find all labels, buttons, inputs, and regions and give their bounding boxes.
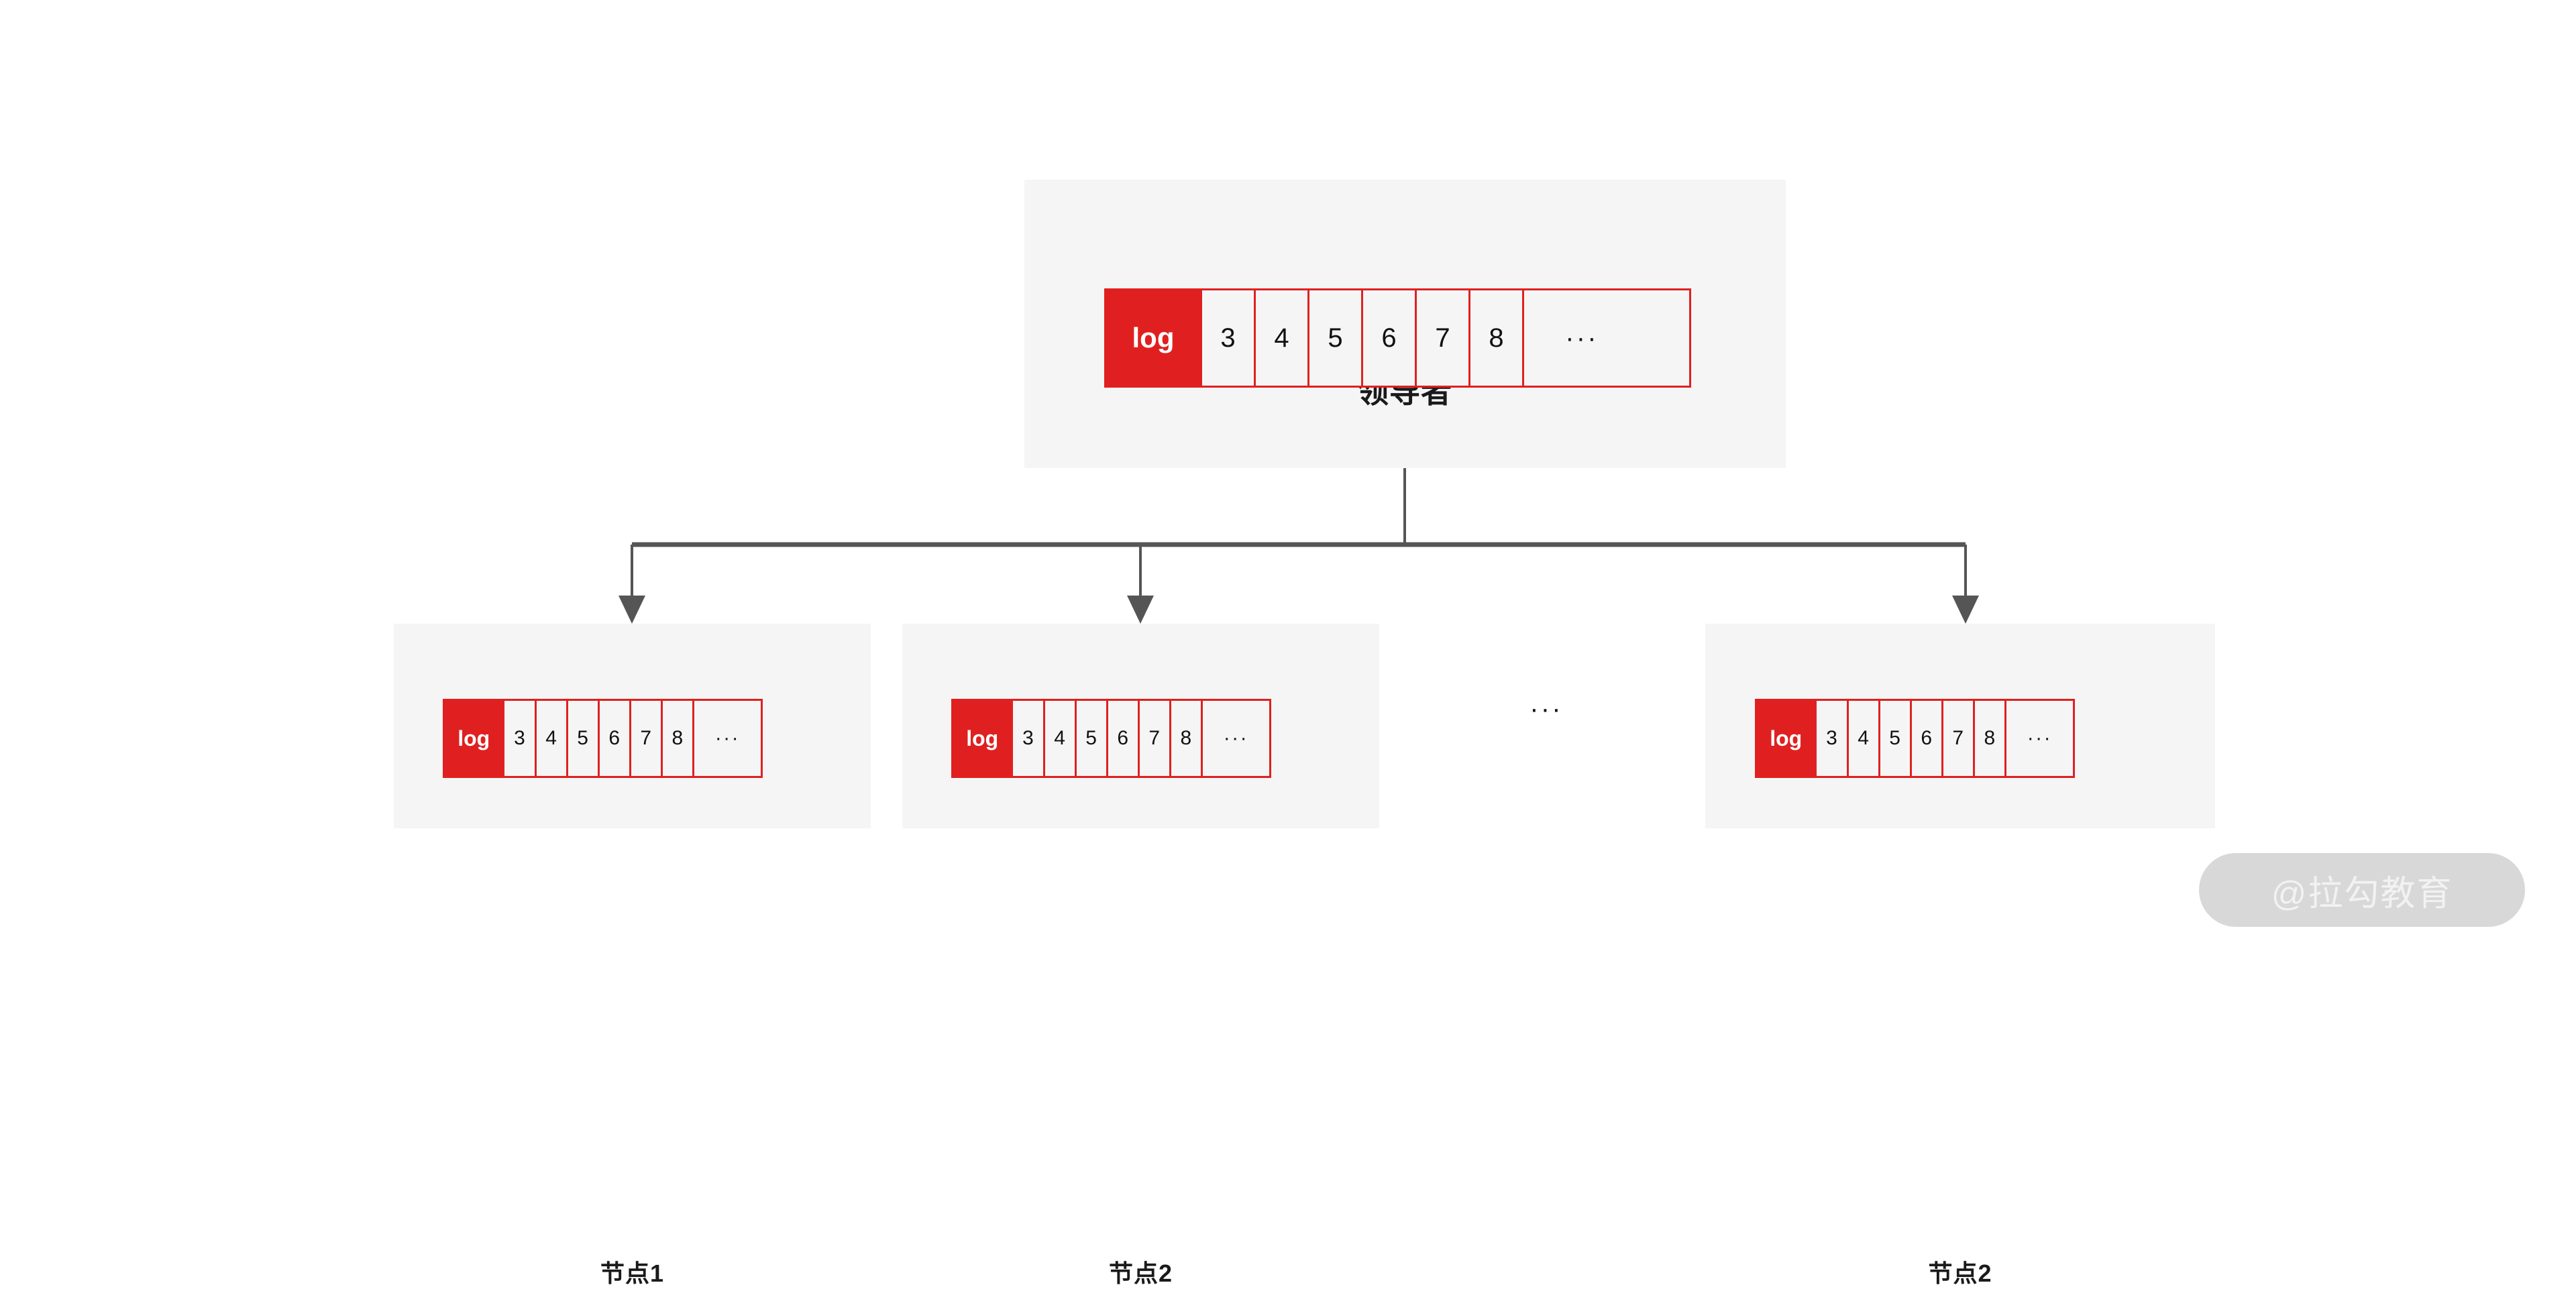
watermark-text: @拉勾教育 — [2271, 865, 2453, 915]
leader-log-strip: log 3 4 5 6 7 8 ··· — [1104, 288, 1691, 388]
leader-log-entry-cell: 5 — [1307, 290, 1361, 386]
leader-log-entry-cell: 4 — [1254, 290, 1307, 386]
node-log-entry-cell: 8 — [1973, 701, 2004, 776]
node-log-entry-cell: 3 — [502, 701, 534, 776]
node-log-entry-cell: 7 — [629, 701, 661, 776]
leader-log-entry-cell: 8 — [1468, 290, 1522, 386]
node-log-entry-cell: 8 — [661, 701, 692, 776]
node-title-3: 节点2 — [1705, 1254, 2215, 1289]
node-log-entry-cell: 7 — [1138, 701, 1169, 776]
arrowhead-icon-1 — [619, 596, 645, 624]
leader-log-entry-cell: 3 — [1200, 290, 1254, 386]
diagram-canvas: 领导者 log 3 4 5 6 7 8 ··· 节点1 log 3 4 5 6 … — [0, 0, 2576, 986]
node-log-ellipsis-cell: ··· — [2004, 701, 2073, 776]
arrowhead-icon-3 — [1952, 596, 1979, 624]
node-log-label-cell: log — [1757, 701, 1815, 776]
watermark-badge: @拉勾教育 — [2199, 853, 2525, 927]
arrowhead-icon-2 — [1127, 596, 1154, 624]
node-log-strip-3: log 3 4 5 6 7 8 ··· — [1755, 699, 2075, 778]
node-log-entry-cell: 6 — [1106, 701, 1138, 776]
node-log-entry-cell: 6 — [598, 701, 629, 776]
node-log-ellipsis-cell: ··· — [1201, 701, 1269, 776]
leader-log-entry-cell: 6 — [1361, 290, 1415, 386]
node-log-label-cell: log — [445, 701, 502, 776]
node-log-strip-1: log 3 4 5 6 7 8 ··· — [443, 699, 763, 778]
node-group-ellipsis: ··· — [1509, 694, 1583, 724]
node-log-entry-cell: 3 — [1815, 701, 1846, 776]
leader-log-ellipsis-cell: ··· — [1522, 290, 1640, 386]
leader-log-label-cell: log — [1106, 290, 1200, 386]
node-log-entry-cell: 4 — [535, 701, 566, 776]
node-log-entry-cell: 5 — [1878, 701, 1910, 776]
node-title-1: 节点1 — [394, 1254, 871, 1289]
node-log-entry-cell: 3 — [1011, 701, 1042, 776]
connector-lines — [0, 0, 2576, 986]
node-log-entry-cell: 8 — [1169, 701, 1201, 776]
node-log-entry-cell: 7 — [1941, 701, 1973, 776]
node-log-entry-cell: 6 — [1910, 701, 1941, 776]
node-log-entry-cell: 5 — [1075, 701, 1106, 776]
node-log-strip-2: log 3 4 5 6 7 8 ··· — [951, 699, 1271, 778]
leader-log-entry-cell: 7 — [1415, 290, 1468, 386]
node-log-ellipsis-cell: ··· — [692, 701, 761, 776]
node-log-label-cell: log — [953, 701, 1011, 776]
node-title-2: 节点2 — [902, 1254, 1379, 1289]
node-log-entry-cell: 4 — [1847, 701, 1878, 776]
node-log-entry-cell: 4 — [1043, 701, 1075, 776]
node-log-entry-cell: 5 — [566, 701, 598, 776]
